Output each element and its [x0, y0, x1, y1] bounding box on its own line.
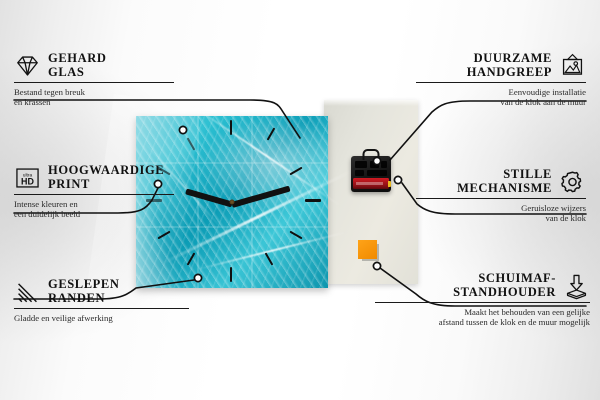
spacer-arrow-icon: [563, 273, 590, 299]
callout-stille-mechanisme[interactable]: STILLE MECHANISME Geruisloze wijzers van…: [416, 168, 586, 224]
callout-title-line1: GESLEPEN: [48, 278, 120, 292]
callout-title-line1: SCHUIMAF-: [478, 272, 556, 286]
callout-sub-line1: Geruisloze wijzers: [416, 203, 586, 213]
callout-rule: [416, 198, 586, 199]
callout-geslepen-randen[interactable]: GESLEPEN RANDEN Gladde en veilige afwerk…: [14, 278, 189, 323]
movement-slot: [381, 161, 387, 168]
hanger-hook-icon: [363, 149, 380, 160]
callout-rule: [416, 82, 586, 83]
callout-title-line2: MECHANISME: [457, 182, 552, 196]
gear-icon: [559, 169, 586, 195]
callout-sub-line1: Gladde en veilige afwerking: [14, 313, 189, 323]
callout-hoogwaardige-print[interactable]: ultra HD HOOGWAARDIGE PRINT Intense kleu…: [14, 164, 174, 220]
callout-sub-line1: Maakt het behouden van een gelijke: [375, 307, 590, 317]
callout-title-line1: STILLE: [503, 168, 552, 182]
movement-slot: [370, 161, 379, 168]
polished-edges-icon: [14, 279, 41, 305]
callout-title-line1: HOOGWAARDIGE: [48, 164, 164, 178]
callout-gehard-glas[interactable]: GEHARD GLAS Bestand tegen breuk en krass…: [14, 52, 174, 108]
hanging-picture-icon: [559, 53, 586, 79]
movement-slot: [355, 170, 364, 176]
callout-rule: [375, 302, 590, 303]
callout-sub-line1: Intense kleuren en: [14, 199, 174, 209]
movement-slot: [355, 161, 367, 168]
hour-marker: [305, 199, 321, 202]
callout-sub-line1: Bestand tegen breuk: [14, 87, 174, 97]
callout-sub-line2: een duidelijk beeld: [14, 209, 174, 219]
callout-rule: [14, 308, 189, 309]
callout-schuimafstandhouder[interactable]: SCHUIMAF- STANDHOUDER Maakt het behouden…: [375, 272, 590, 328]
callout-sub-line2: van de klok: [416, 213, 586, 223]
callout-sub-line2: van de klok aan de muur: [416, 97, 586, 107]
infographic-canvas: GEHARD GLAS Bestand tegen breuk en krass…: [0, 0, 600, 400]
ultra-hd-icon: ultra HD: [14, 165, 41, 191]
callout-duurzame-handgreep[interactable]: DUURZAME HANDGREEP Eenvoudige installati…: [416, 52, 586, 108]
callout-sub-line2: en krassen: [14, 97, 174, 107]
callout-title-line2: HANDGREEP: [467, 66, 552, 80]
callout-title-line1: DUURZAME: [474, 52, 552, 66]
clock-movement: [351, 156, 391, 192]
callout-rule: [14, 194, 174, 195]
movement-slot: [367, 170, 387, 176]
foam-spacer: [358, 240, 377, 259]
callout-sub-line1: Eenvoudige installatie: [416, 87, 586, 97]
callout-title-line2: GLAS: [48, 66, 84, 80]
callout-sub-line2: afstand tussen de klok en de muur mogeli…: [375, 317, 590, 327]
clock-center-pin: [230, 200, 235, 205]
callout-title-line2: PRINT: [48, 178, 90, 192]
diamond-icon: [14, 53, 41, 79]
callout-title-line2: STANDHOUDER: [453, 286, 556, 300]
callout-rule: [14, 82, 174, 83]
ultra-hd-icon-large-text: HD: [21, 176, 34, 186]
callout-title-line1: GEHARD: [48, 52, 106, 66]
battery: [353, 178, 389, 189]
callout-title-line2: RANDEN: [48, 292, 105, 306]
